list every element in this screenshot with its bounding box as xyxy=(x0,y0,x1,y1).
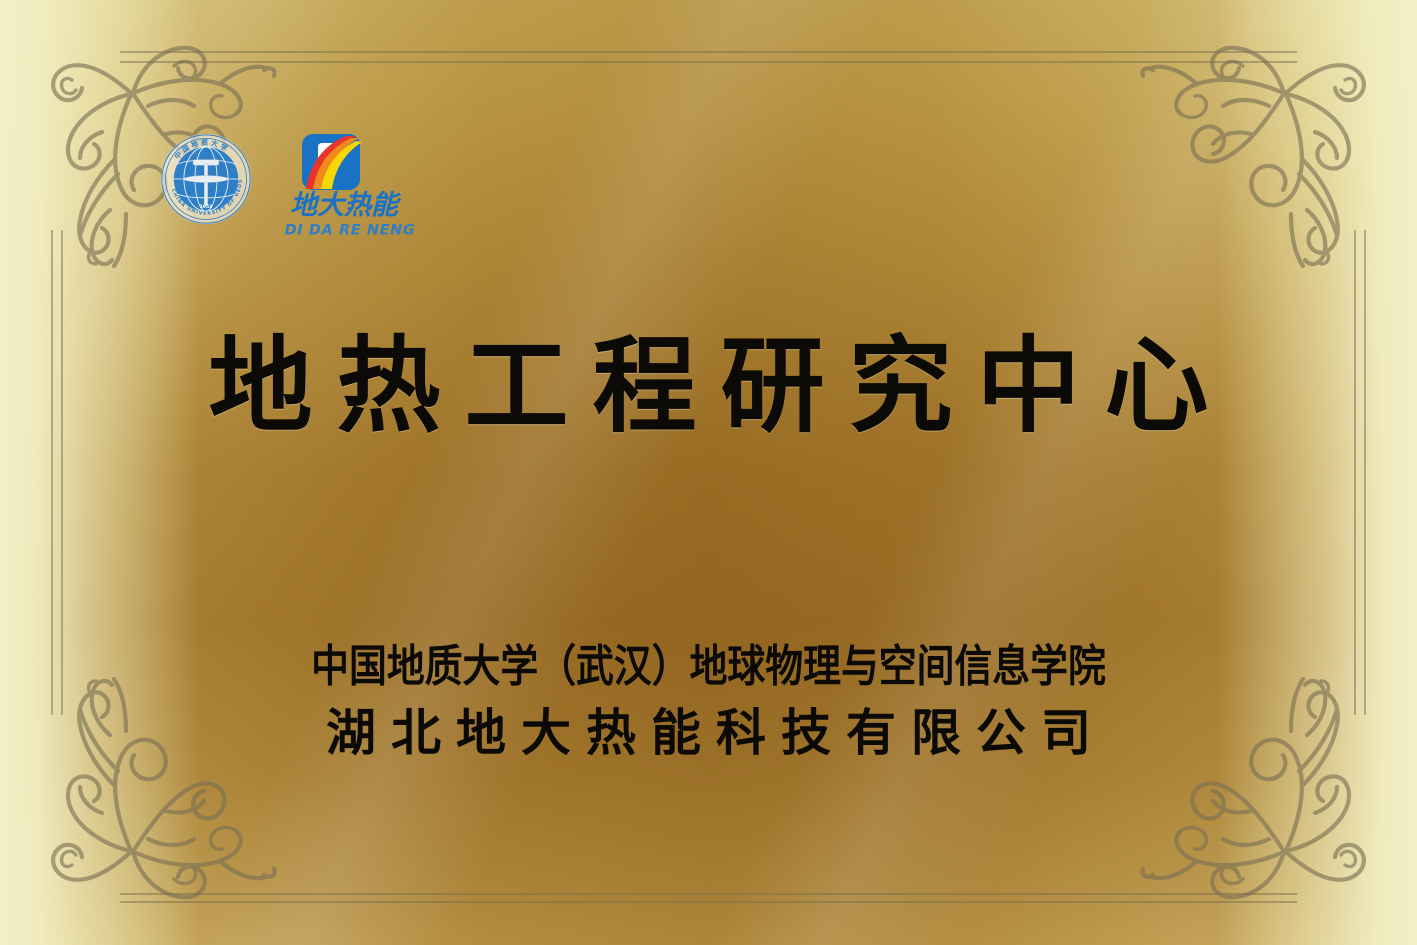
didareneng-text-en: DI DA RE NENG xyxy=(284,219,416,239)
didareneng-text-cn: 地大热能 xyxy=(274,189,414,219)
frame-line-bottom-outer xyxy=(120,893,1297,895)
organization-line-2: 湖北地大热能科技有限公司 xyxy=(0,702,1417,764)
page-title: 地热工程研究中心 xyxy=(0,330,1417,442)
award-plaque: 中国地质大学 CHINA UNIVERSITY OF GEOSCIENCES 1… xyxy=(0,0,1417,945)
seal-year: 1952 xyxy=(200,204,213,210)
frame-line-left-outer xyxy=(51,230,53,715)
frame-line-top-inner xyxy=(120,61,1297,63)
frame-line-right-outer xyxy=(1364,230,1366,715)
didareneng-logo: 地大热能 DI DA RE NENG xyxy=(274,133,414,243)
frame-line-right-inner xyxy=(1354,230,1356,715)
didareneng-mark-icon xyxy=(296,133,368,195)
china-university-of-geosciences-seal-icon: 中国地质大学 CHINA UNIVERSITY OF GEOSCIENCES 1… xyxy=(160,133,252,225)
organization-line-1: 中国地质大学（武汉）地球物理与空间信息学院 xyxy=(99,640,1318,694)
didareneng-cn-label: 地大热能 xyxy=(290,190,402,219)
floral-scroll-corner-ornament-icon xyxy=(1138,14,1403,279)
right-edge-highlight xyxy=(1217,0,1417,945)
frame-line-bottom-inner xyxy=(120,901,1297,903)
frame-line-top-outer xyxy=(120,51,1297,53)
didareneng-en-label: DI DA RE NENG xyxy=(285,223,416,239)
frame-line-left-inner xyxy=(61,230,63,715)
logo-row: 中国地质大学 CHINA UNIVERSITY OF GEOSCIENCES 1… xyxy=(160,133,414,243)
